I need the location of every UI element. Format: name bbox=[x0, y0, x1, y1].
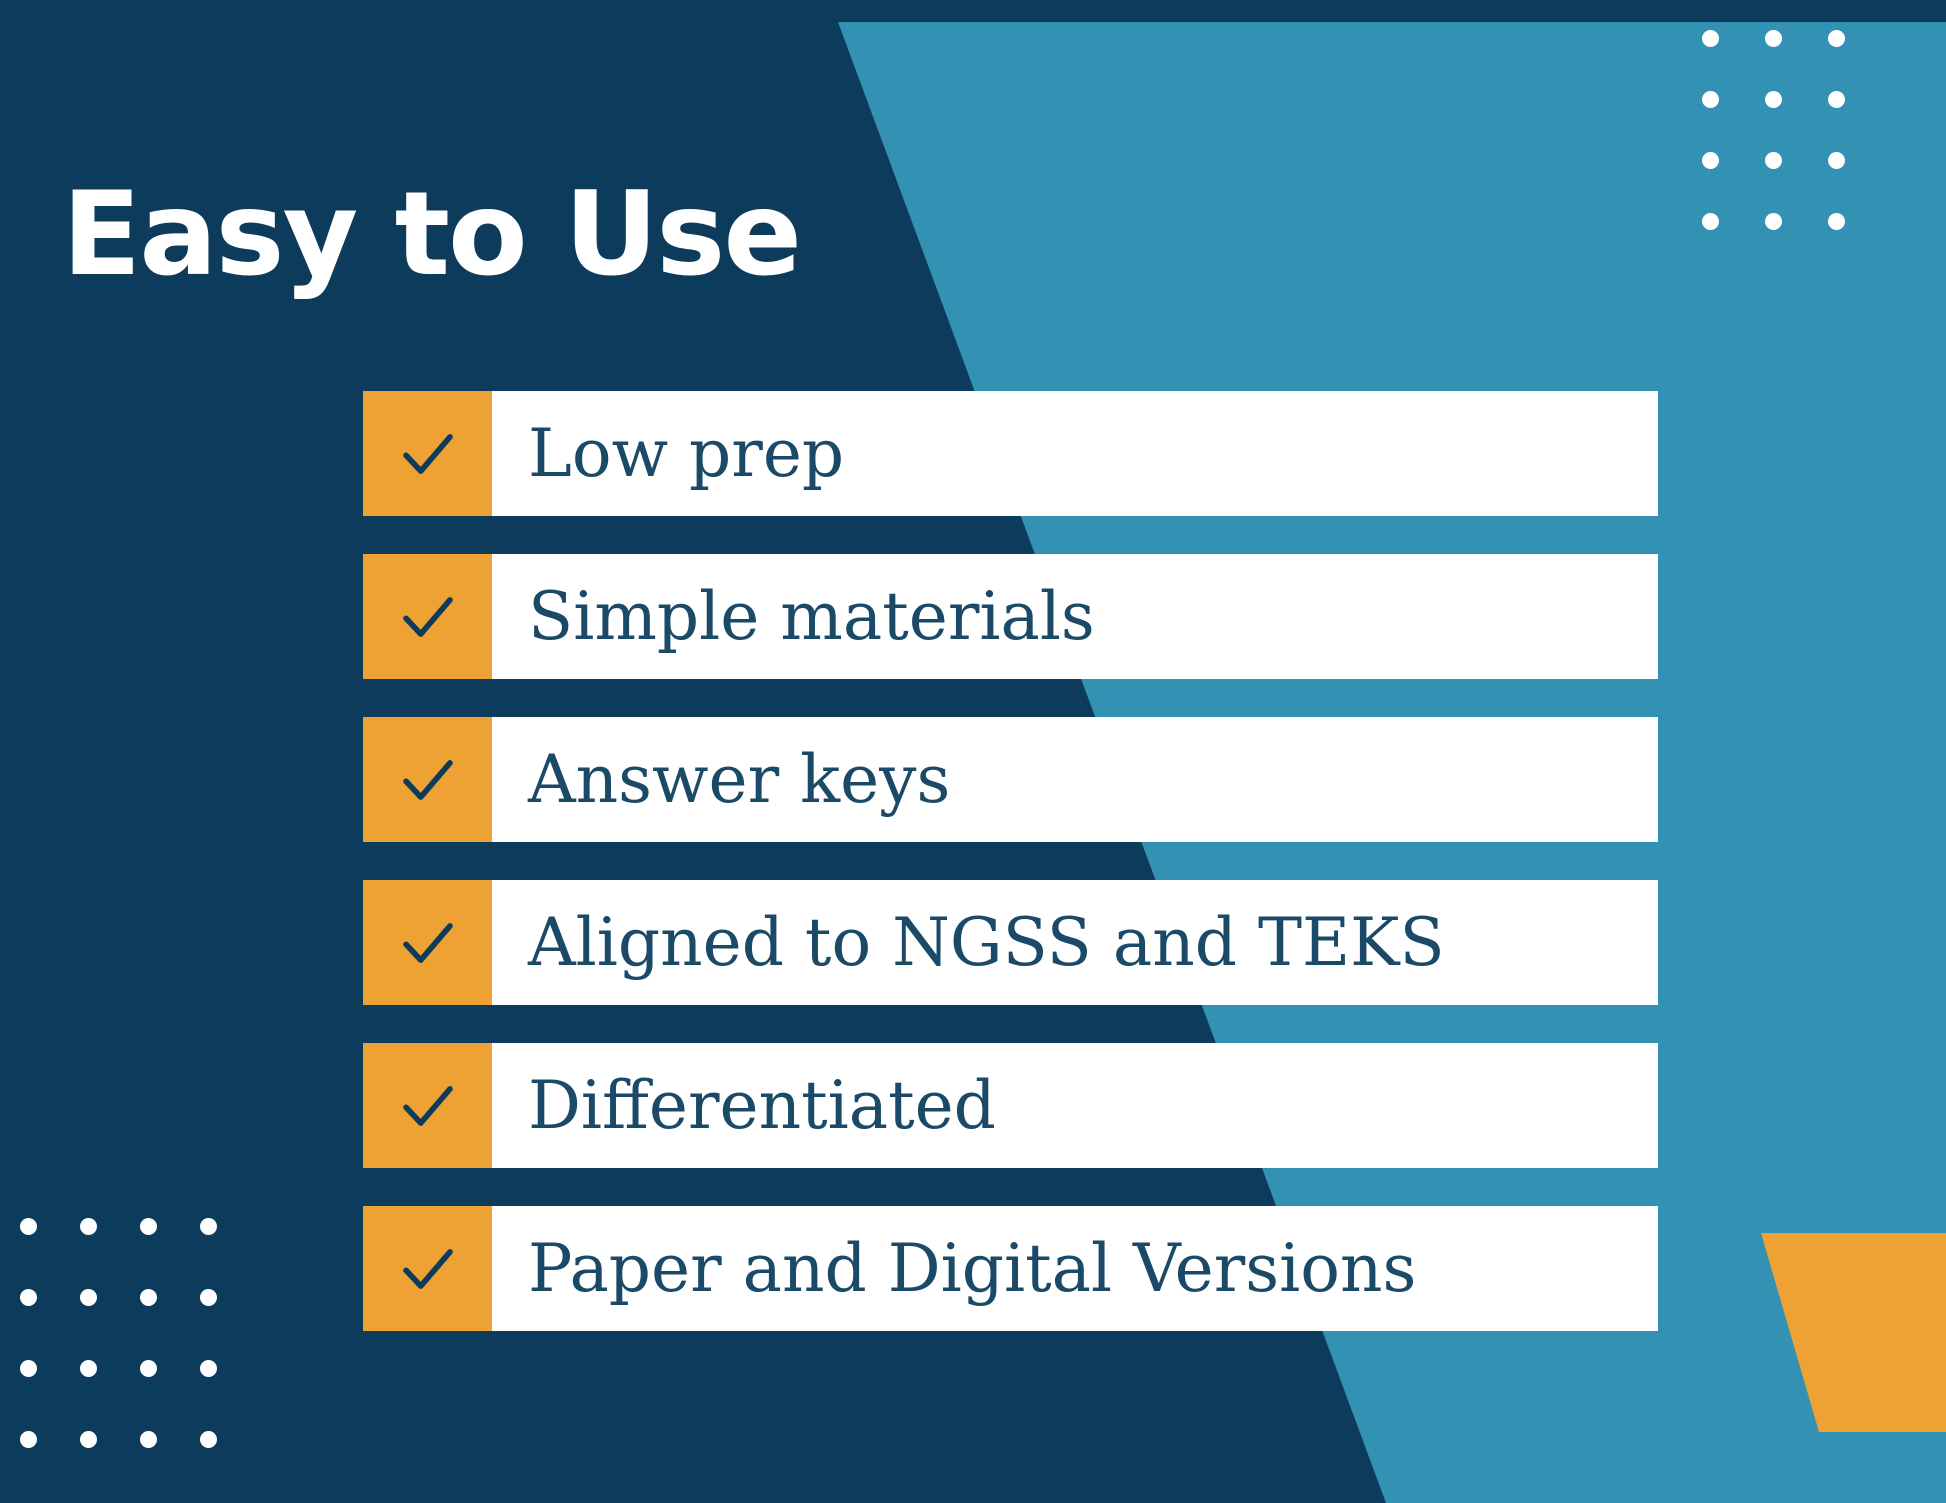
checklist-item-label: Differentiated bbox=[528, 1073, 996, 1139]
check-icon bbox=[397, 912, 459, 974]
decorative-dot bbox=[1828, 152, 1845, 169]
checklist-item: Differentiated bbox=[363, 1043, 1658, 1168]
decorative-dot bbox=[80, 1360, 97, 1377]
feature-checklist: Low prepSimple materialsAnswer keysAlign… bbox=[363, 391, 1663, 1369]
decorative-dot bbox=[20, 1360, 37, 1377]
checklist-item: Aligned to NGSS and TEKS bbox=[363, 880, 1658, 1005]
checklist-item-bar: Low prep bbox=[492, 391, 1658, 516]
checklist-item-label: Answer keys bbox=[528, 747, 950, 813]
checklist-item-label: Simple materials bbox=[528, 584, 1095, 650]
decorative-dot bbox=[1702, 152, 1719, 169]
checklist-item-bar: Aligned to NGSS and TEKS bbox=[492, 880, 1658, 1005]
checklist-item: Answer keys bbox=[363, 717, 1658, 842]
slide-canvas: Easy to Use Low prepSimple materialsAnsw… bbox=[0, 0, 1946, 1503]
decorative-dot bbox=[200, 1289, 217, 1306]
decorative-dot bbox=[1702, 30, 1719, 47]
checkbox-tile bbox=[363, 554, 492, 679]
decorative-dot bbox=[200, 1218, 217, 1235]
checkbox-tile bbox=[363, 1043, 492, 1168]
decorative-dot bbox=[80, 1289, 97, 1306]
decorative-dot bbox=[20, 1289, 37, 1306]
checkbox-tile bbox=[363, 1206, 492, 1331]
check-icon bbox=[397, 1075, 459, 1137]
decorative-dot bbox=[140, 1218, 157, 1235]
decorative-dot bbox=[200, 1431, 217, 1448]
decorative-dot bbox=[80, 1431, 97, 1448]
decorative-dot bbox=[1765, 152, 1782, 169]
page-title: Easy to Use bbox=[62, 174, 800, 296]
decorative-dot bbox=[200, 1360, 217, 1377]
top-navy-strip bbox=[0, 0, 1946, 22]
decorative-dot bbox=[1765, 30, 1782, 47]
checklist-item-bar: Answer keys bbox=[492, 717, 1658, 842]
decorative-dot bbox=[1828, 91, 1845, 108]
decorative-dot bbox=[1828, 30, 1845, 47]
check-icon bbox=[397, 586, 459, 648]
decorative-dot bbox=[140, 1431, 157, 1448]
check-icon bbox=[397, 423, 459, 485]
checklist-item: Low prep bbox=[363, 391, 1658, 516]
decorative-dot bbox=[20, 1218, 37, 1235]
dot-grid-bottom-left bbox=[20, 1218, 260, 1502]
decorative-dot bbox=[1702, 213, 1719, 230]
check-icon bbox=[397, 1238, 459, 1300]
checklist-item: Paper and Digital Versions bbox=[363, 1206, 1658, 1331]
checkbox-tile bbox=[363, 391, 492, 516]
checklist-item-bar: Differentiated bbox=[492, 1043, 1658, 1168]
decorative-dot bbox=[140, 1289, 157, 1306]
checkbox-tile bbox=[363, 717, 492, 842]
decorative-dot bbox=[140, 1360, 157, 1377]
check-icon bbox=[397, 749, 459, 811]
decorative-dot bbox=[20, 1431, 37, 1448]
dot-grid-top-right bbox=[1702, 30, 1891, 274]
checklist-item-label: Low prep bbox=[528, 421, 844, 487]
checklist-item-bar: Simple materials bbox=[492, 554, 1658, 679]
decorative-dot bbox=[1828, 213, 1845, 230]
checklist-item-bar: Paper and Digital Versions bbox=[492, 1206, 1658, 1331]
checkbox-tile bbox=[363, 880, 492, 1005]
decorative-dot bbox=[1702, 91, 1719, 108]
decorative-dot bbox=[1765, 91, 1782, 108]
decorative-dot bbox=[1765, 213, 1782, 230]
decorative-dot bbox=[80, 1218, 97, 1235]
checklist-item-label: Paper and Digital Versions bbox=[528, 1236, 1416, 1302]
checklist-item: Simple materials bbox=[363, 554, 1658, 679]
checklist-item-label: Aligned to NGSS and TEKS bbox=[528, 910, 1445, 976]
